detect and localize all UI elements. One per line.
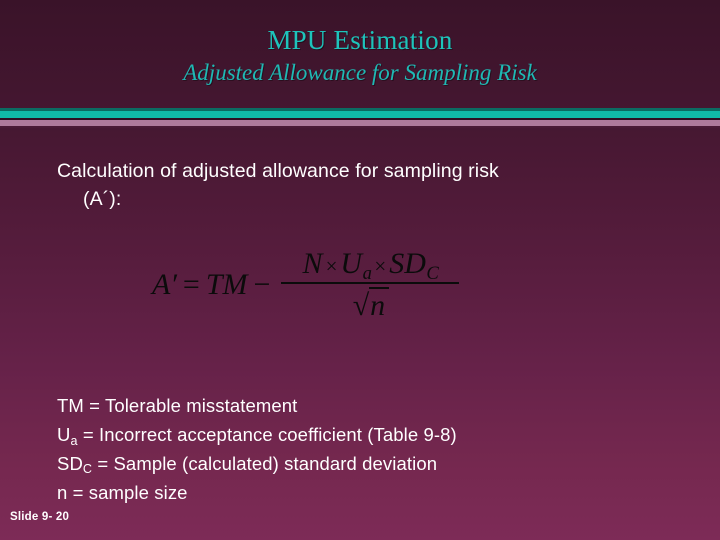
equation-denominator: √n	[352, 284, 389, 324]
equation-adjusted-allowance: A′=TM− N×Ua×SDC √n	[152, 248, 459, 323]
equation-radical: √n	[352, 287, 389, 324]
divider-band-teal-bright	[0, 111, 720, 118]
legend-symbol: U	[57, 424, 70, 445]
equation-radicand-n: n	[369, 287, 389, 324]
legend-definition: = Sample (calculated) standard deviation	[97, 453, 437, 474]
equation-lhs-prime: ′	[170, 268, 177, 301]
equation-term-tm: TM	[206, 268, 248, 301]
radical-sign-icon: √	[353, 289, 369, 322]
legend-definition: = Tolerable misstatement	[89, 395, 297, 416]
equation-factor-ua: Ua	[340, 248, 371, 280]
legend-symbol-subscript: a	[70, 434, 77, 448]
equation-factor-sdc: SDC	[389, 248, 438, 280]
list-item: n = sample size	[57, 479, 457, 508]
equation-minus: −	[248, 268, 277, 301]
list-item: TM = Tolerable misstatement	[57, 392, 457, 421]
page-title: MPU Estimation	[0, 0, 720, 54]
legend-symbol: SD	[57, 453, 83, 474]
equation-lhs: A′=TM−	[152, 268, 276, 304]
equation-factor-n: N	[303, 248, 323, 280]
body-line-secondary: (A´):	[57, 186, 691, 214]
equation-factor-sdc-subscript: C	[426, 263, 438, 284]
equation-equals: =	[177, 268, 206, 301]
presentation-slide: MPU Estimation Adjusted Allowance for Sa…	[0, 0, 720, 540]
body-text-block: Calculation of adjusted allowance for sa…	[57, 158, 691, 213]
equation-factor-ua-base: U	[340, 247, 362, 280]
equation-numerator: N×Ua×SDC	[297, 248, 445, 282]
equation-times-2: ×	[371, 255, 389, 277]
list-item: Ua = Incorrect acceptance coefficient (T…	[57, 421, 457, 450]
slide-title-block: MPU Estimation Adjusted Allowance for Sa…	[0, 0, 720, 108]
page-subtitle: Adjusted Allowance for Sampling Risk	[0, 54, 720, 85]
legend-definition: = sample size	[73, 482, 188, 503]
symbol-definition-list: TM = Tolerable misstatement Ua = Incorre…	[57, 392, 457, 507]
legend-symbol-subscript: C	[83, 462, 92, 476]
legend-symbol: n	[57, 482, 67, 503]
list-item: SDC = Sample (calculated) standard devia…	[57, 450, 457, 479]
legend-symbol: TM	[57, 395, 84, 416]
equation-factor-sdc-base: SD	[389, 247, 426, 280]
divider-bar	[0, 108, 720, 128]
equation-fraction: N×Ua×SDC √n	[281, 248, 459, 323]
divider-band-tail	[0, 126, 720, 128]
equation-times-1: ×	[323, 255, 341, 277]
equation-lhs-symbol: A	[152, 268, 170, 301]
slide-number-footer: Slide 9- 20	[10, 511, 69, 523]
equation-factor-ua-subscript: a	[363, 263, 372, 284]
body-line-primary: Calculation of adjusted allowance for sa…	[57, 158, 691, 186]
legend-definition: = Incorrect acceptance coefficient (Tabl…	[83, 424, 457, 445]
